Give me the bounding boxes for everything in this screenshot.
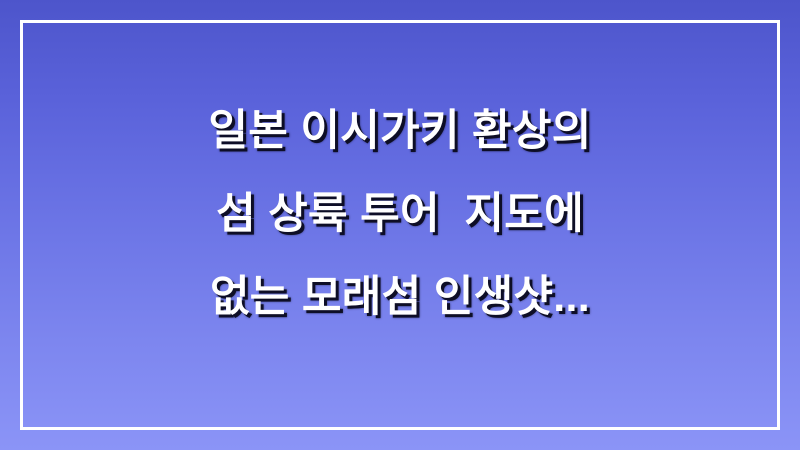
title-card: 일본 이시가키 환상의 섬 상륙 투어 지도에 없는 모래섬 인생샷... (0, 0, 800, 450)
title-line-2: 섬 상륙 투어 지도에 (216, 173, 584, 256)
title-line-1: 일본 이시가키 환상의 (208, 90, 591, 173)
title-text-block: 일본 이시가키 환상의 섬 상륙 투어 지도에 없는 모래섬 인생샷... (0, 0, 800, 450)
title-line-3: 없는 모래섬 인생샷... (210, 256, 590, 339)
